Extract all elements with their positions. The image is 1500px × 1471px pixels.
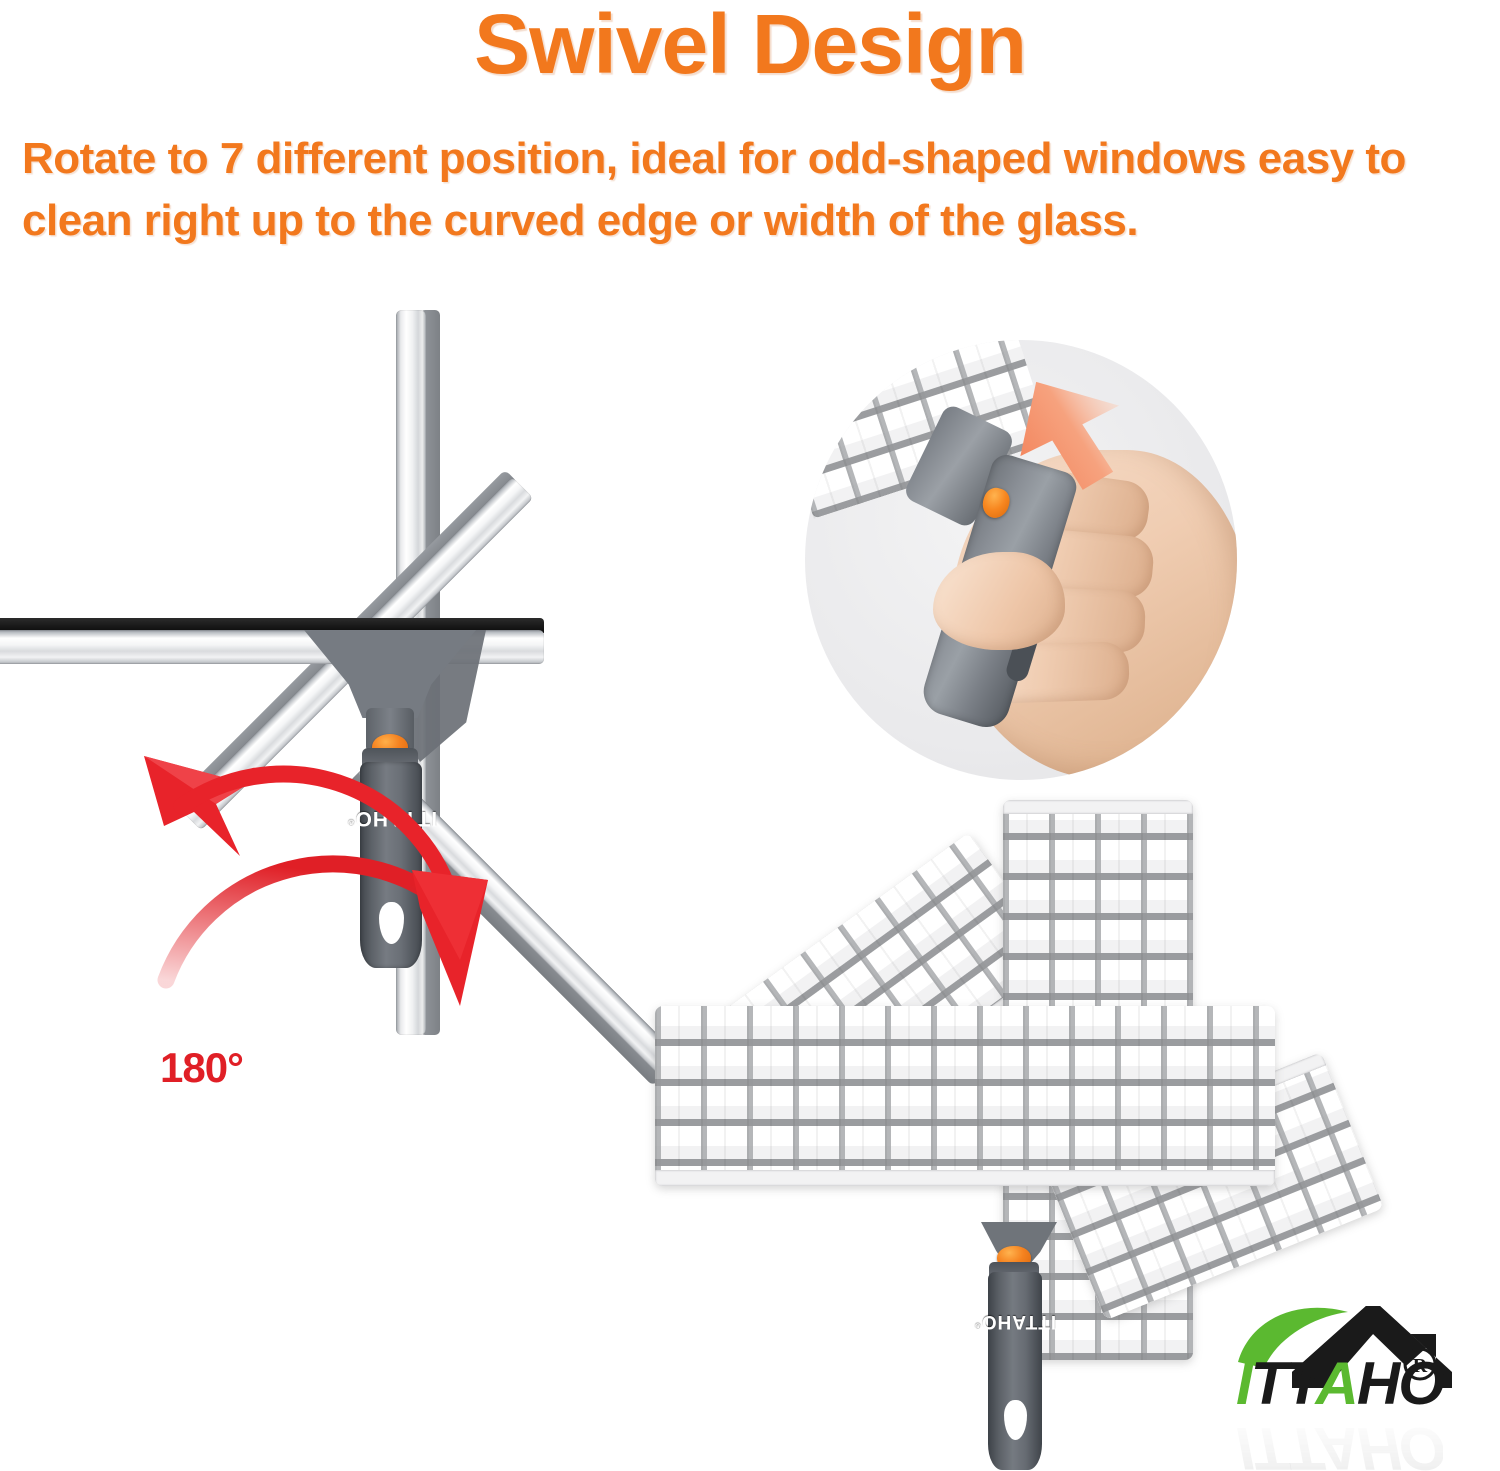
press-arrow-icon xyxy=(1019,376,1169,506)
hand-inset-content xyxy=(805,340,1237,780)
hand-detail-inset xyxy=(805,340,1237,780)
pad-hem xyxy=(655,1170,1275,1186)
logo-letter-a: A xyxy=(1316,1350,1357,1417)
registered-mark-icon: ® xyxy=(974,1321,981,1330)
logo-letter-i: I xyxy=(1236,1350,1251,1417)
rotation-degree-label: 180° xyxy=(160,1044,243,1092)
infographic-page: Swivel Design Rotate to 7 different posi… xyxy=(0,0,1500,1471)
pad-hang-hole xyxy=(1004,1400,1027,1440)
page-title: Swivel Design xyxy=(0,2,1500,86)
swivel-diagram: ITTAHO® xyxy=(0,300,620,1060)
logo-reflection: ITTAHO xyxy=(1236,1414,1443,1471)
pad-hem xyxy=(1003,800,1193,814)
thumb xyxy=(933,552,1065,650)
pad-cluster-handle: ITTAHO® xyxy=(988,1272,1042,1470)
pad-cluster-handle-assembly: ITTAHO® xyxy=(975,1222,1095,1471)
description-text: Rotate to 7 different position, ideal fo… xyxy=(22,128,1492,253)
logo-letters-tt: TT xyxy=(1251,1350,1316,1417)
horizontal-pad xyxy=(655,1006,1275,1186)
pad-handle-brand-label: ITTAHO® xyxy=(970,1310,1060,1332)
logo-wordmark: ITTAHO xyxy=(1236,1354,1443,1414)
pad-weave-texture xyxy=(655,1006,1275,1186)
logo-letters-ho: HO xyxy=(1357,1350,1443,1417)
brand-logo: R ITTAHO ITTAHO xyxy=(1230,1296,1488,1446)
rotation-arrow-icon xyxy=(120,608,540,1028)
pad-handle-brand-text: ITTAHO xyxy=(981,1311,1056,1332)
